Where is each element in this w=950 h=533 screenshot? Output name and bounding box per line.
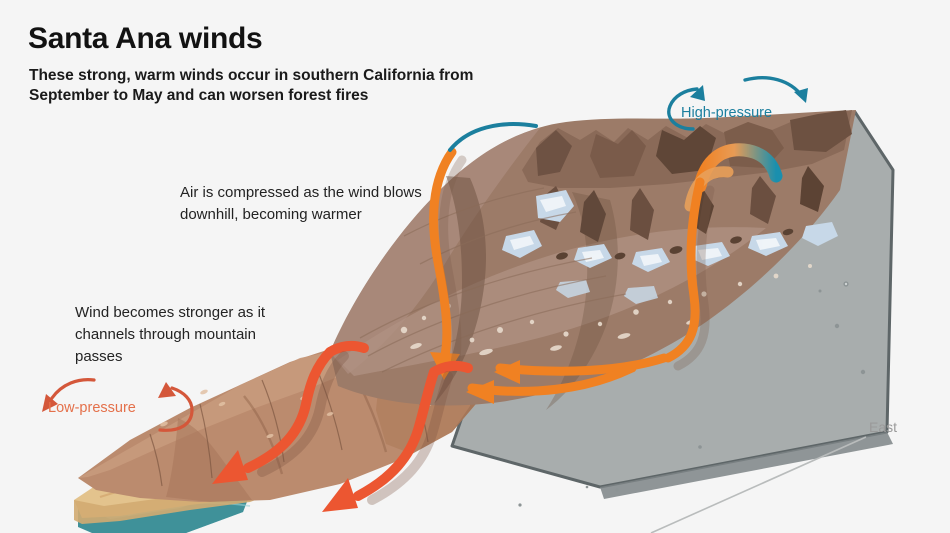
annotation-wind-channels: Wind becomes stronger as it channels thr… [75, 302, 305, 368]
annotation-air-compressed: Air is compressed as the wind blows down… [180, 182, 450, 226]
low-pressure-label: Low-pressure [48, 400, 136, 416]
page-title: Santa Ana winds [28, 22, 262, 56]
high-pressure-label: High-pressure [681, 105, 772, 121]
east-direction-label: East [869, 419, 897, 435]
infographic-root: Santa Ana winds These strong, warm winds… [0, 0, 950, 533]
high-pressure-arrowheads [690, 85, 808, 103]
page-subtitle: These strong, warm winds occur in southe… [29, 66, 549, 106]
